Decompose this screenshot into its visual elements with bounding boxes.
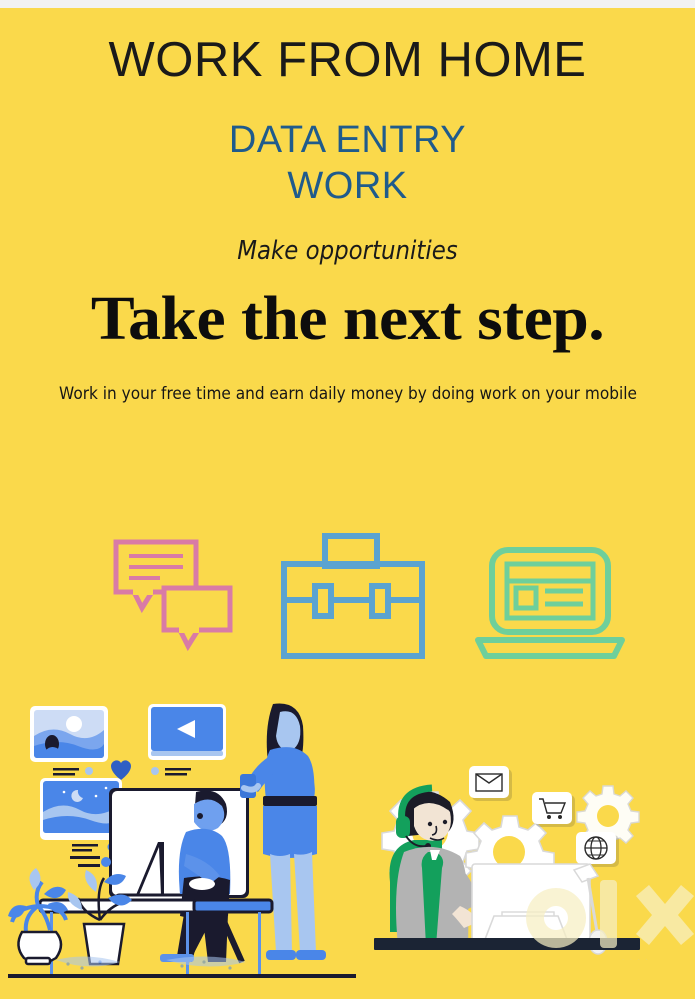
subtitle-line-1: DATA ENTRY <box>0 120 695 162</box>
feature-icon-row <box>0 528 695 673</box>
envelope-icon <box>469 766 512 801</box>
person-standing-with-phone <box>240 703 326 960</box>
poster-text-block: WORK FROM HOME DATA ENTRY WORK Make oppo… <box>0 8 695 409</box>
subtitle-line-2: WORK <box>0 166 695 208</box>
top-white-strip <box>0 0 695 8</box>
ground-texture <box>56 956 246 969</box>
headline: Take the next step. <box>0 288 695 350</box>
heart-icon <box>111 760 131 780</box>
potted-plant-round-vase <box>8 868 68 964</box>
customer-support-illustration <box>352 752 695 992</box>
remote-work-desk-illustration <box>8 692 356 992</box>
social-card-video <box>148 704 226 776</box>
chat-bubbles-icon <box>112 538 237 663</box>
desk-bar <box>374 938 640 950</box>
globe-icon <box>576 832 619 867</box>
tagline: Make opportunities <box>42 236 654 266</box>
briefcase-icon <box>278 528 428 668</box>
poster-canvas: WORK FROM HOME DATA ENTRY WORK Make oppo… <box>0 0 695 999</box>
social-card-photo-1 <box>30 706 108 776</box>
body-description: Work in your free time and earn daily mo… <box>45 380 650 409</box>
page-title: WORK FROM HOME <box>0 35 695 86</box>
shopping-cart-icon <box>532 792 575 827</box>
laptop-icon <box>474 544 626 669</box>
